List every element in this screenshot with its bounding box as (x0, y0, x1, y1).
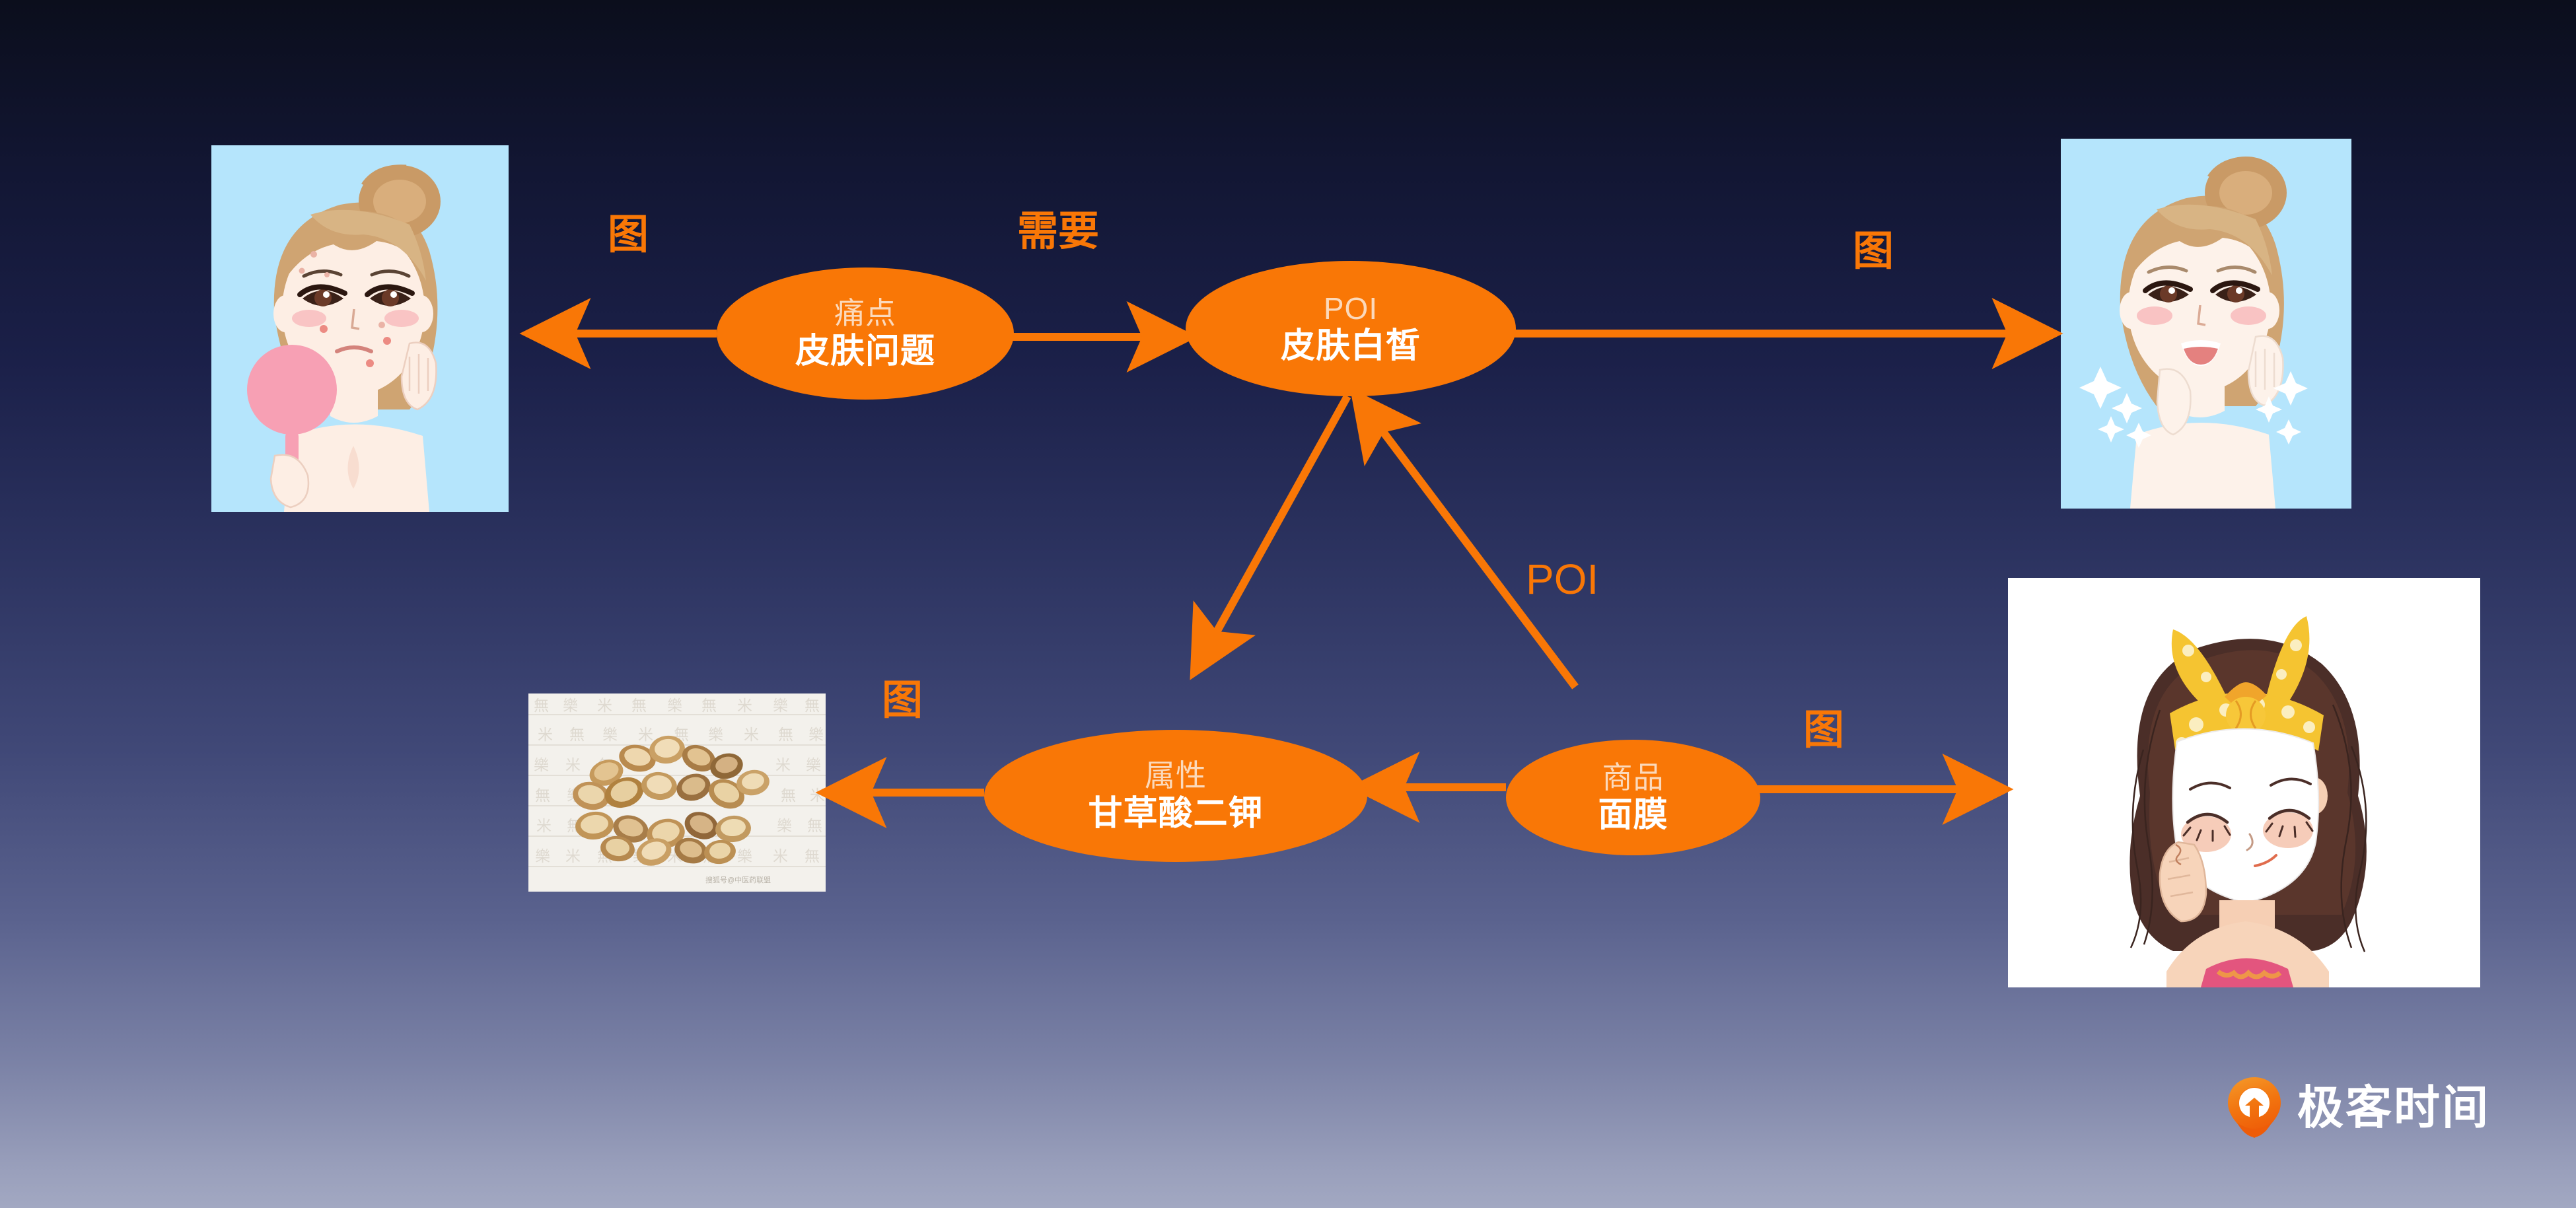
photo-face-mask-girl (2008, 578, 2480, 987)
node-poi-type: POI (1324, 293, 1378, 326)
node-product[interactable]: 商品 面膜 (1506, 740, 1760, 855)
svg-text:樂: 樂 (808, 727, 824, 743)
svg-text:樂: 樂 (737, 848, 752, 865)
node-attribute-name: 甘草酸二钾 (1088, 795, 1263, 832)
svg-text:米: 米 (810, 787, 825, 804)
edge-label-product-photo: 图 (1803, 710, 1844, 751)
photo-clear-skin-girl (2061, 139, 2351, 509)
licorice-root-illustration: 無樂米無 樂無米樂無 米無樂米 無樂米無樂 樂米無米樂 無樂無米 米無樂無 樂米… (528, 693, 826, 892)
node-product-type: 商品 (1602, 762, 1664, 795)
svg-text:無: 無 (778, 727, 793, 743)
svg-text:無: 無 (631, 697, 647, 714)
node-painpoint-name: 皮肤问题 (795, 333, 935, 370)
svg-text:米: 米 (737, 697, 752, 714)
svg-text:米: 米 (638, 727, 653, 743)
svg-text:樂: 樂 (806, 757, 821, 773)
edge-label-poi-photo: 图 (1853, 231, 1894, 272)
node-poi[interactable]: POI 皮肤白皙 (1186, 261, 1516, 396)
node-product-name: 面膜 (1598, 797, 1668, 834)
svg-text:樂: 樂 (535, 848, 550, 865)
diagram-canvas: 無樂米無 樂無米樂無 米無樂米 無樂米無樂 樂米無米樂 無樂無米 米無樂無 樂米… (0, 0, 2576, 1208)
edge-poi-to-attribute (1194, 396, 1347, 672)
svg-text:米: 米 (773, 848, 788, 865)
svg-text:米: 米 (536, 818, 552, 834)
brand-name: 极客时间 (2297, 1084, 2490, 1131)
svg-text:米: 米 (565, 757, 581, 773)
svg-text:米: 米 (744, 727, 759, 743)
svg-text:米: 米 (538, 727, 553, 743)
edge-label-attribute-photo: 图 (882, 680, 923, 721)
svg-text:米: 米 (565, 848, 581, 865)
svg-text:搜狐号@中医药联盟: 搜狐号@中医药联盟 (705, 875, 771, 884)
node-poi-name: 皮肤白皙 (1281, 328, 1421, 365)
svg-text:無: 無 (701, 697, 717, 714)
node-painpoint[interactable]: 痛点 皮肤问题 (717, 267, 1014, 400)
svg-text:米: 米 (597, 697, 612, 714)
svg-text:米: 米 (775, 757, 791, 773)
svg-text:樂: 樂 (777, 818, 792, 834)
acne-girl-illustration (211, 145, 509, 512)
edge-product-to-poi (1355, 395, 1575, 687)
svg-text:無: 無 (534, 697, 549, 714)
svg-text:無: 無 (805, 697, 820, 714)
node-attribute-type: 属性 (1145, 760, 1207, 793)
svg-text:樂: 樂 (563, 697, 578, 714)
svg-text:無: 無 (807, 818, 822, 834)
svg-text:樂: 樂 (773, 697, 788, 714)
node-attribute[interactable]: 属性 甘草酸二钾 (984, 730, 1367, 862)
clear-skin-girl-illustration (2061, 139, 2351, 509)
face-mask-girl-illustration (2008, 578, 2480, 987)
edge-label-painpoint-photo: 图 (608, 215, 649, 256)
photo-acne-girl (211, 145, 509, 512)
edge-label-poi-relation: POI (1526, 558, 1598, 600)
svg-text:樂: 樂 (708, 727, 723, 743)
svg-text:樂: 樂 (667, 697, 682, 714)
geektime-pin-icon (2226, 1077, 2283, 1139)
photo-licorice-root: 無樂米無 樂無米樂無 米無樂米 無樂米無樂 樂米無米樂 無樂無米 米無樂無 樂米… (528, 693, 826, 892)
node-painpoint-type: 痛点 (834, 297, 896, 330)
svg-text:無: 無 (535, 787, 550, 804)
svg-text:無: 無 (569, 727, 585, 743)
svg-text:無: 無 (805, 848, 820, 865)
svg-text:樂: 樂 (534, 757, 549, 773)
svg-text:無: 無 (781, 787, 796, 804)
brand-logo: 极客时间 (2226, 1077, 2490, 1139)
svg-text:樂: 樂 (602, 727, 618, 743)
edge-label-need: 需要 (1017, 211, 1099, 252)
